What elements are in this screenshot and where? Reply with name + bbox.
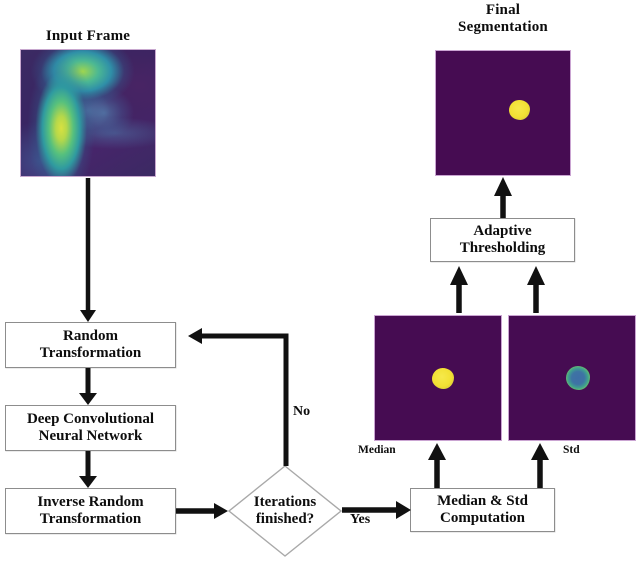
- box-inverse-random-transformation[interactable]: Inverse Random Transformation: [5, 488, 176, 534]
- box-median-std-computation-line2: Computation: [411, 510, 554, 527]
- box-adaptive-thresholding[interactable]: Adaptive Thresholding: [430, 218, 575, 262]
- std-image-panel: [508, 315, 636, 441]
- final-segmentation-title-line1: Final: [433, 2, 573, 19]
- final-segmentation-image: [435, 50, 571, 176]
- arrow-median-std-to-std-panel: [531, 443, 549, 488]
- std-blob: [566, 366, 590, 390]
- box-inverse-random-transformation-line1: Inverse Random: [6, 494, 175, 511]
- box-inverse-random-transformation-line2: Transformation: [6, 511, 175, 528]
- box-median-std-computation-line1: Median & Std: [411, 493, 554, 510]
- box-deep-cnn[interactable]: Deep Convolutional Neural Network: [5, 405, 176, 451]
- edge-label-yes: Yes: [350, 512, 370, 528]
- box-random-transformation-line2: Transformation: [6, 345, 175, 362]
- segmentation-blob: [509, 100, 530, 120]
- arrow-decision-no-feedback: [188, 328, 286, 466]
- std-panel-label: Std: [563, 444, 580, 456]
- decision-diamond-shape: [228, 465, 342, 557]
- arrow-median-panel-to-adaptive-thresholding: [450, 266, 468, 313]
- median-blob: [432, 368, 454, 389]
- box-deep-cnn-line2: Neural Network: [6, 428, 175, 445]
- arrow-median-std-to-median-panel: [428, 443, 446, 488]
- edge-label-no: No: [293, 404, 310, 420]
- input-frame-image: [20, 49, 156, 177]
- box-adaptive-thresholding-line2: Thresholding: [431, 240, 574, 257]
- arrow-inverse-random-transformation-to-decision: [176, 503, 228, 519]
- flow-diagram-canvas: Input Frame Final Segmentation Median St…: [0, 0, 640, 564]
- box-median-std-computation[interactable]: Median & Std Computation: [410, 488, 555, 532]
- box-deep-cnn-line1: Deep Convolutional: [6, 411, 175, 428]
- box-adaptive-thresholding-line1: Adaptive: [431, 223, 574, 240]
- input-frame-title: Input Frame: [20, 28, 156, 45]
- arrow-adaptive-thresholding-to-final-segmentation: [494, 177, 512, 218]
- arrow-deep-cnn-to-inverse-random-transformation: [79, 451, 97, 488]
- box-random-transformation-line1: Random: [6, 328, 175, 345]
- arrow-std-panel-to-adaptive-thresholding: [527, 266, 545, 313]
- box-random-transformation[interactable]: Random Transformation: [5, 322, 176, 368]
- final-segmentation-title-line2: Segmentation: [433, 19, 573, 36]
- median-image-panel: [374, 315, 502, 441]
- median-panel-label: Median: [358, 444, 396, 456]
- final-segmentation-title: Final Segmentation: [433, 2, 573, 36]
- arrow-input-to-random-transformation: [80, 178, 96, 322]
- decision-iterations-finished[interactable]: Iterations finished?: [228, 465, 342, 557]
- arrow-random-transformation-to-deep-cnn: [79, 368, 97, 405]
